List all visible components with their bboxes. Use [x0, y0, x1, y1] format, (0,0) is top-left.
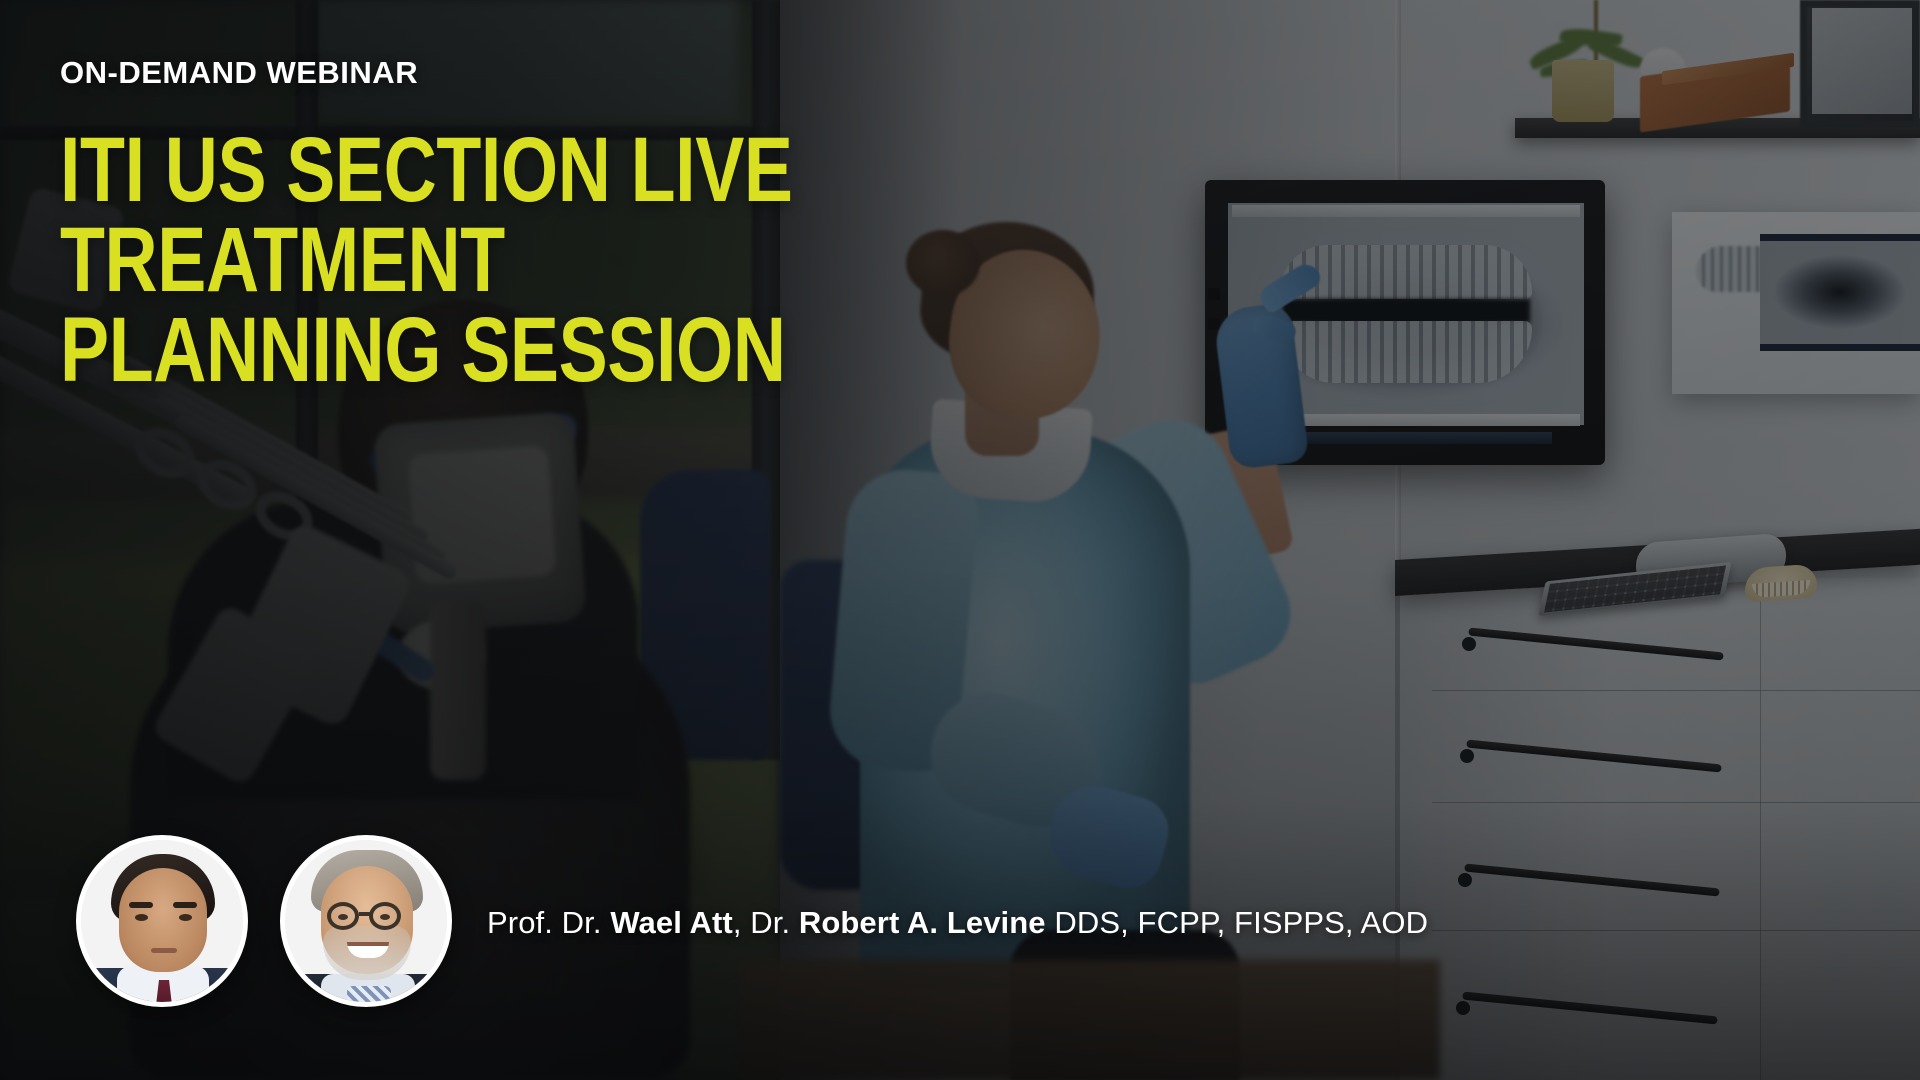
avatar-mouth	[151, 948, 177, 953]
eyebrow-label: ON-DEMAND WEBINAR	[60, 55, 418, 91]
page-title: ITI US SECTION LIVE TREATMENT PLANNING S…	[60, 125, 988, 395]
avatar	[76, 835, 248, 1007]
glasses-bridge	[359, 912, 371, 916]
presenter-separator: , Dr.	[733, 905, 799, 940]
presenter-name-2: Robert A. Levine	[799, 905, 1046, 940]
avatar	[280, 835, 452, 1007]
avatar-face	[119, 868, 207, 972]
avatar-eye	[135, 914, 148, 921]
avatar-bowtie	[347, 986, 391, 1006]
banner-content: ON-DEMAND WEBINAR ITI US SECTION LIVE TR…	[0, 0, 1920, 1080]
avatar-eyebrow	[129, 902, 153, 908]
presenter-names: Prof. Dr. Wael Att, Dr. Robert A. Levine…	[487, 905, 1428, 941]
avatar-eyebrow	[173, 902, 197, 908]
webinar-banner: ON-DEMAND WEBINAR ITI US SECTION LIVE TR…	[0, 0, 1920, 1080]
avatar-eye	[338, 914, 348, 920]
presenter-credentials: DDS, FCPP, FISPPS, AOD	[1046, 905, 1428, 940]
avatar-eye	[380, 914, 390, 920]
presenter-name-1: Wael Att	[610, 905, 733, 940]
avatar-eye	[179, 914, 192, 921]
presenter-prefix-1: Prof. Dr.	[487, 905, 610, 940]
